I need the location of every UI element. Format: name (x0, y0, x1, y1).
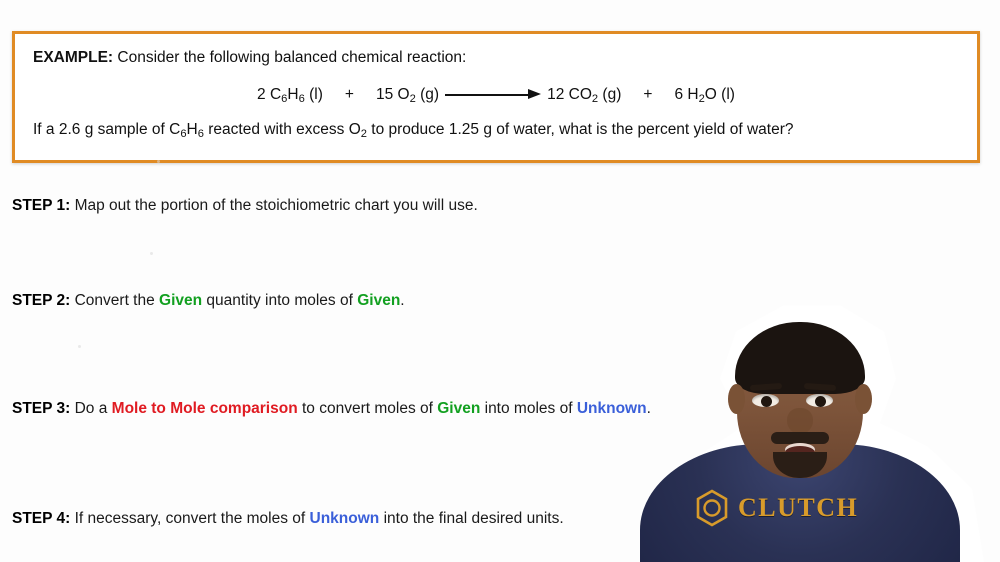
reactant-2-subscript: 2 (410, 93, 416, 105)
text-segment-plain-4: into moles of (480, 400, 577, 417)
product-2-element-o: O (705, 86, 717, 103)
question-part-3: reacted with excess O (204, 121, 361, 138)
scan-speck (78, 345, 81, 348)
text-segment-plain-2: into the final desired units. (379, 510, 563, 527)
example-question: If a 2.6 g sample of C6H6 reacted with e… (33, 120, 793, 144)
step-2-label: STEP 2: (12, 292, 70, 309)
text-segment-unknown-1: Unknown (310, 510, 380, 527)
presenter-ear-right (855, 384, 872, 414)
reactant-1-subscript-h: 6 (299, 93, 305, 105)
step-1-body: Map out the portion of the stoichiometri… (70, 197, 478, 214)
step-1-line: STEP 1: Map out the portion of the stoic… (12, 195, 478, 216)
product-2-state: (l) (721, 86, 735, 103)
product-1-formula: CO (569, 86, 592, 103)
text-segment-plain-0: If necessary, convert the moles of (70, 510, 309, 527)
presenter-pupil-right (815, 396, 826, 407)
text-segment-plain-4: . (400, 292, 404, 309)
scan-speck (150, 252, 153, 255)
product-2: 6 H2O (l) (674, 86, 735, 103)
step-2-line: STEP 2: Convert the Given quantity into … (12, 290, 405, 311)
presenter-pupil-left (761, 396, 772, 407)
equation-plus-1: + (345, 86, 354, 103)
step-3-label: STEP 3: (12, 400, 70, 417)
step-3-line: STEP 3: Do a Mole to Mole comparison to … (12, 398, 651, 419)
reactant-2: 15 O2 (g) (376, 86, 439, 103)
text-segment-plain-2: quantity into moles of (202, 292, 357, 309)
reactant-1-state: (l) (309, 86, 323, 103)
product-2-coefficient: 6 (674, 86, 683, 103)
step-4-line: STEP 4: If necessary, convert the moles … (12, 508, 564, 529)
text-segment-mole-1: Mole to Mole comparison (112, 400, 298, 417)
product-1: 12 CO2 (g) (547, 86, 621, 103)
text-segment-plain-0: Map out the portion of the stoichiometri… (70, 197, 478, 214)
question-part-2: H (187, 121, 198, 138)
text-segment-given-3: Given (437, 400, 480, 417)
example-prompt-text: Consider the following balanced chemical… (113, 49, 466, 66)
reactant-2-state: (g) (420, 86, 439, 103)
question-part-4: to produce 1.25 g of water, what is the … (367, 121, 794, 138)
example-lead-label: EXAMPLE: (33, 49, 113, 66)
reactant-1: 2 C6H6 (l) (257, 86, 323, 103)
clutch-shirt-logo: CLUTCH (695, 486, 875, 530)
product-1-subscript: 2 (592, 93, 598, 105)
step-4-label: STEP 4: (12, 510, 70, 527)
product-1-state: (g) (602, 86, 621, 103)
presenter-nose (787, 408, 813, 434)
text-segment-plain-0: Do a (70, 400, 111, 417)
product-1-coefficient: 12 (547, 86, 564, 103)
presenter-ear-left (728, 384, 745, 414)
reactant-1-element-h: H (287, 86, 298, 103)
product-2-element-h: H (687, 86, 698, 103)
reactant-1-coefficient: 2 (257, 86, 266, 103)
step-1-label: STEP 1: (12, 197, 70, 214)
step-3-body: Do a Mole to Mole comparison to convert … (70, 400, 651, 417)
presenter-video-overlay: CLUTCH (600, 300, 1000, 562)
step-4-body: If necessary, convert the moles of Unkno… (70, 510, 563, 527)
example-box: EXAMPLE: Consider the following balanced… (12, 31, 980, 163)
equation-plus-2: + (643, 86, 652, 103)
reactant-1-element-c: C (270, 86, 281, 103)
chemical-equation: 2 C6H6 (l)+15 O2 (g)12 CO2 (g)+6 H2O (l) (15, 85, 977, 109)
hexagon-benzene-icon (695, 489, 729, 527)
question-part-1: If a 2.6 g sample of C (33, 121, 180, 138)
example-prompt: EXAMPLE: Consider the following balanced… (33, 48, 466, 68)
text-segment-plain-2: to convert moles of (298, 400, 438, 417)
reaction-arrow-icon (445, 90, 541, 100)
text-segment-given-1: Given (159, 292, 202, 309)
reactant-2-coefficient: 15 (376, 86, 393, 103)
step-2-body: Convert the Given quantity into moles of… (70, 292, 404, 309)
text-segment-plain-0: Convert the (70, 292, 159, 309)
text-segment-given-3: Given (357, 292, 400, 309)
clutch-wordmark: CLUTCH (738, 493, 858, 523)
reactant-2-element-o: O (398, 86, 410, 103)
scan-speck (157, 160, 160, 163)
